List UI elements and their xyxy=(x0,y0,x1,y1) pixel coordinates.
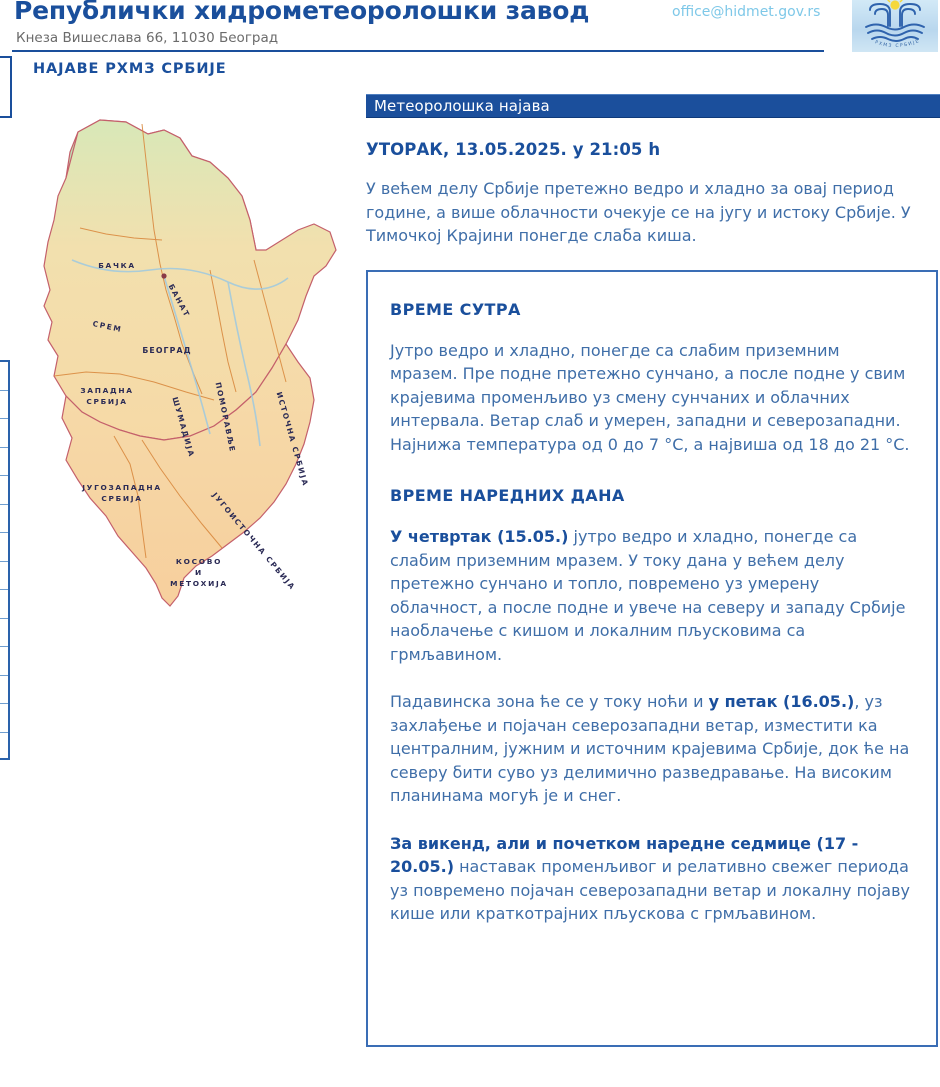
thursday-forecast: У четвртак (15.05.) јутро ведро и хладно… xyxy=(390,525,912,666)
thursday-lead: У четвртак (15.05.) xyxy=(390,527,568,546)
forecast-column: Метеоролошка најава УТОРАК, 13.05.2025. … xyxy=(366,94,940,1047)
coming-days-heading: ВРЕМЕ НАРЕДНИХ ДАНА xyxy=(390,486,912,505)
menu-row[interactable] xyxy=(0,476,8,505)
forecast-panel-title: Метеоролошка најава xyxy=(374,97,550,115)
menu-row[interactable] xyxy=(0,362,8,391)
menu-row[interactable] xyxy=(0,505,8,534)
serbia-region-map[interactable]: БАЧКА БАНАТ СРЕМ БЕОГРАД ЗАПАДНА СРБИЈА … xyxy=(14,100,360,620)
svg-text:КОСОВО: КОСОВО xyxy=(176,557,222,566)
organization-title: Републички хидрометеоролошки завод xyxy=(14,0,589,25)
menu-row[interactable] xyxy=(0,590,8,619)
page-root: Републички хидрометеоролошки завод Кнеза… xyxy=(0,0,940,1087)
svg-text:БЕОГРАД: БЕОГРАД xyxy=(142,346,191,355)
site-header: Републички хидрометеоролошки завод Кнеза… xyxy=(0,0,940,52)
svg-text:ЈУГОЗАПАДНА: ЈУГОЗАПАДНА xyxy=(81,483,162,492)
left-menu-stub-panel[interactable] xyxy=(0,360,10,760)
rhmz-logo[interactable]: РХМЗ СРБИЈЕ xyxy=(852,0,938,52)
belgrade-marker xyxy=(161,273,166,278)
weekend-body: наставак променљивог и релативно свежег … xyxy=(390,857,910,923)
tomorrow-heading: ВРЕМЕ СУТРА xyxy=(390,300,912,319)
menu-row[interactable] xyxy=(0,647,8,676)
friday-prefix: Падавинска зона ће се у току ноћи и xyxy=(390,692,709,711)
menu-row[interactable] xyxy=(0,391,8,420)
svg-text:СРБИЈА: СРБИЈА xyxy=(86,397,127,406)
thursday-body: јутро ведро и хладно, понегде са слабим … xyxy=(390,527,905,664)
friday-lead: у петак (16.05.) xyxy=(709,692,855,711)
left-nav-stub-panel[interactable] xyxy=(0,56,12,118)
forecast-detail-box: ВРЕМЕ СУТРА Јутро ведро и хладно, понегд… xyxy=(366,270,938,1047)
tomorrow-text: Јутро ведро и хладно, понегде са слабим … xyxy=(390,339,912,457)
friday-forecast: Падавинска зона ће се у току ноћи и у пе… xyxy=(390,690,912,808)
menu-row[interactable] xyxy=(0,533,8,562)
contact-email-link[interactable]: office@hidmet.gov.rs xyxy=(672,4,820,20)
announcements-heading: НАЈАВЕ РХМЗ СРБИЈЕ xyxy=(33,61,227,77)
menu-row[interactable] xyxy=(0,619,8,648)
svg-text:БАЧКА: БАЧКА xyxy=(98,261,136,270)
menu-row[interactable] xyxy=(0,562,8,591)
weekend-forecast: За викенд, али и почетком наредне седмиц… xyxy=(390,832,912,926)
issue-datetime: УТОРАК, 13.05.2025. у 21:05 h xyxy=(366,140,940,159)
header-divider xyxy=(12,50,824,52)
forecast-summary: У већем делу Србије претежно ведро и хла… xyxy=(366,177,914,248)
svg-text:И: И xyxy=(195,568,203,577)
svg-text:СРБИЈА: СРБИЈА xyxy=(101,494,142,503)
organization-address: Кнеза Вишеслава 66, 11030 Београд xyxy=(16,30,278,46)
menu-row[interactable] xyxy=(0,448,8,477)
menu-row[interactable] xyxy=(0,419,8,448)
forecast-panel-title-bar: Метеоролошка најава xyxy=(366,94,940,118)
menu-row[interactable] xyxy=(0,733,8,762)
svg-text:МЕТОХИЈА: МЕТОХИЈА xyxy=(170,579,228,588)
menu-row[interactable] xyxy=(0,704,8,733)
svg-text:ЗАПАДНА: ЗАПАДНА xyxy=(80,386,133,395)
menu-row[interactable] xyxy=(0,676,8,705)
